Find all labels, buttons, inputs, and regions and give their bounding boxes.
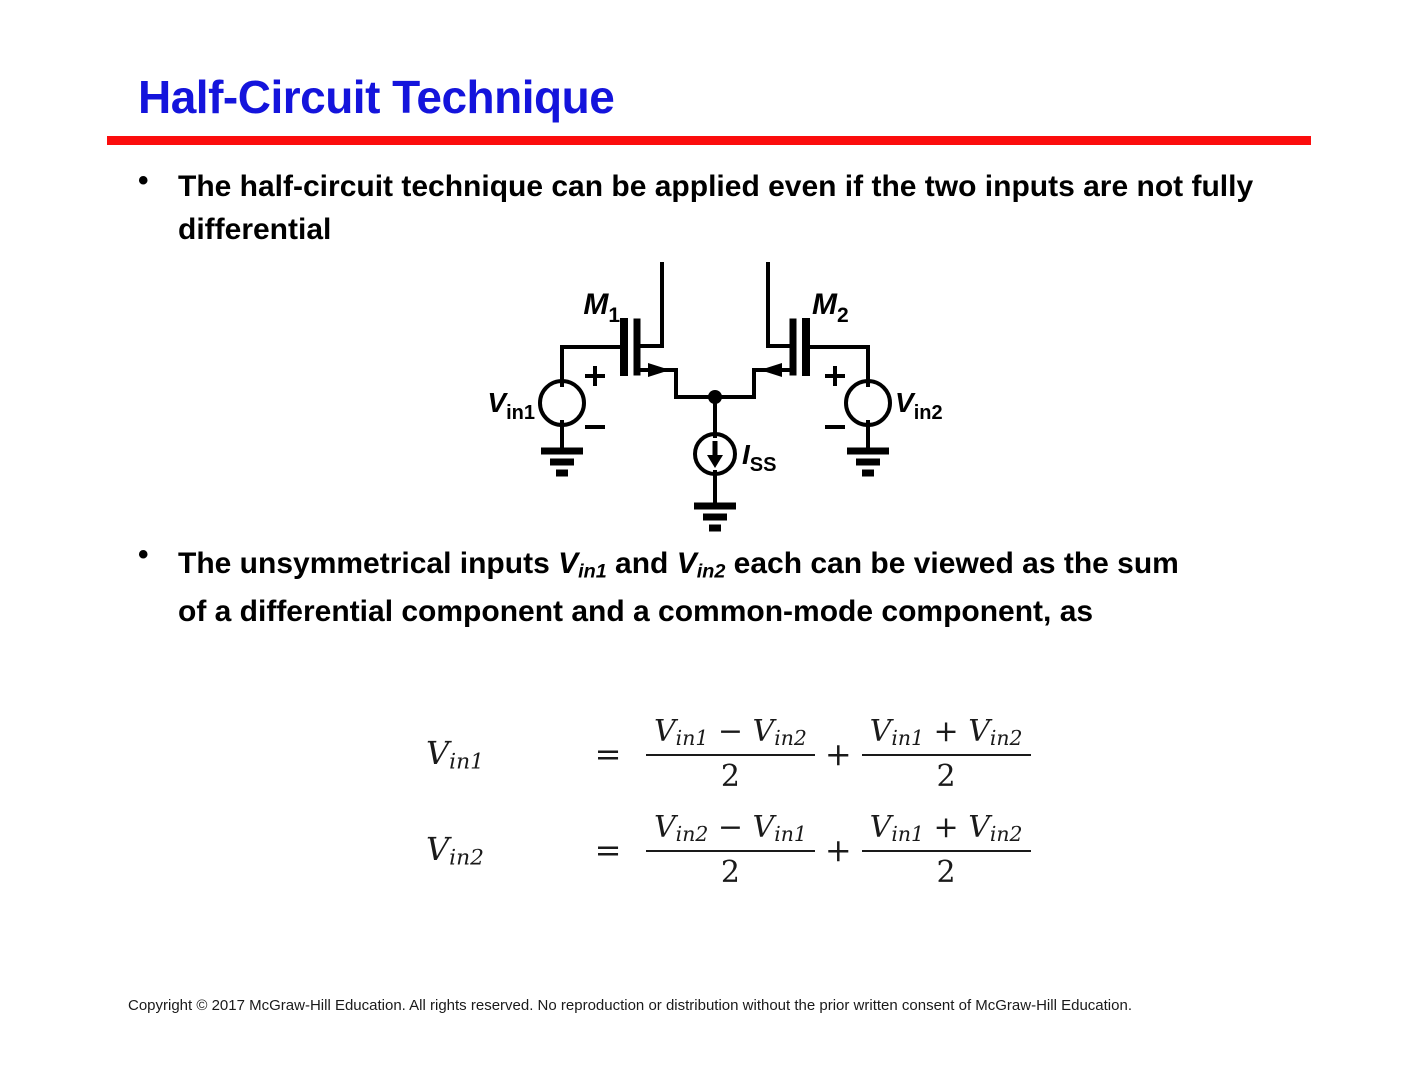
bullet-2-mid: and [607,547,677,580]
bullet-2-vin2-sub: in2 [697,560,726,582]
bullet-marker-icon: • [138,540,178,570]
m1-source-arrow-icon [648,363,670,377]
ground-symbol-vin1 [541,451,583,473]
equation-2-term1-numerator: Vin2 − Vin1 [646,810,815,849]
equation-2-term2-fraction: Vin1 + Vin2 2 [862,810,1031,889]
equation-1-lhs: Vin1 [420,734,576,774]
bullet-item-1: • The half-circuit technique can be appl… [138,166,1258,251]
vin2-source-circle [846,381,890,425]
equation-1-plus: + [821,735,856,773]
eq2-t1-op: − [718,810,743,845]
equation-2-term2-numerator: Vin1 + Vin2 [862,810,1031,849]
eq2-t2-a-base: V [870,810,892,845]
bullet-2-vin1-base: V [558,547,578,580]
eq2-t1-a-base: V [654,810,676,845]
m2-source-arrow-icon [760,363,782,377]
equation-2-rhs: Vin2 − Vin1 2 + Vin1 + Vin2 2 [640,810,1037,889]
circuit-diagram: M1 M2 Vin1 Vin2 ISS [480,262,950,537]
eq2-t2-a-sub: in1 [891,823,924,847]
equation-1-term2-numerator: Vin1 + Vin2 [862,714,1031,753]
eq1-t1-op: − [718,714,743,749]
ground-symbol-vin2 [847,451,889,473]
equation-2-term1-fraction: Vin2 − Vin1 2 [646,810,815,889]
equation-2-term1-denominator: 2 [721,852,740,890]
label-m1-base: M [583,288,609,321]
eq1-t1-a-base: V [654,714,676,749]
label-m1-sub: 1 [608,304,620,327]
eq1-t1-b-sub: in2 [774,727,807,751]
label-vin1: Vin1 [487,387,535,424]
vin1-polarity-signs [585,366,605,429]
equation-row-2: Vin2 = Vin2 − Vin1 2 + Vin1 + Vin2 2 [420,802,1020,898]
label-m2-base: M [812,288,838,321]
label-m2: M2 [812,288,849,327]
ground-symbol-tail [694,506,736,528]
label-vin1-sub: in1 [506,402,535,424]
bullet-2-vin1: Vin1 [558,547,607,580]
bullet-marker-icon: • [138,166,178,196]
vin2-polarity-signs [825,366,845,429]
bullet-2-vin2-base: V [677,547,697,580]
equation-2-term2-denominator: 2 [937,852,956,890]
equation-2-equals: = [576,831,640,869]
equation-block: Vin1 = Vin1 − Vin2 2 + Vin1 + Vin2 2 Vin… [420,706,1020,898]
eq1-t2-op: + [934,714,959,749]
eq2-t2-b-base: V [968,810,990,845]
copyright-footer: Copyright © 2017 McGraw-Hill Education. … [128,997,1132,1014]
label-vin2: Vin2 [895,387,943,424]
bullet-item-2: • The unsymmetrical inputs Vin1 and Vin2… [138,540,1198,636]
eq2-t1-b-base: V [753,810,775,845]
eq1-t1-a-sub: in1 [676,727,709,751]
slide: Half-Circuit Technique • The half-circui… [0,0,1408,1088]
eq1-t2-b-sub: in2 [990,727,1023,751]
label-vin2-sub: in2 [914,402,943,424]
equation-1-rhs: Vin1 − Vin2 2 + Vin1 + Vin2 2 [640,714,1037,793]
eq1-t1-b-base: V [753,714,775,749]
eq1-t2-b-base: V [968,714,990,749]
equation-2-lhs-base: V [426,830,449,868]
bullet-1-text: The half-circuit technique can be applie… [178,166,1258,251]
equation-row-1: Vin1 = Vin1 − Vin2 2 + Vin1 + Vin2 2 [420,706,1020,802]
bullet-2-vin1-sub: in1 [578,560,607,582]
eq2-t1-b-sub: in1 [774,823,807,847]
common-source-node-dot [708,390,722,404]
equation-1-term1-fraction: Vin1 − Vin2 2 [646,714,815,793]
equation-1-lhs-sub: in1 [449,749,484,774]
label-iss-sub: SS [750,454,777,476]
bullet-2-vin2: Vin2 [677,547,726,580]
equation-1-term2-fraction: Vin1 + Vin2 2 [862,714,1031,793]
bullet-2-lead: The unsymmetrical inputs [178,547,558,580]
label-m2-sub: 2 [837,304,849,327]
title-underline-rule [107,136,1311,145]
equation-1-lhs-base: V [426,734,449,772]
eq2-t2-b-sub: in2 [990,823,1023,847]
current-source-arrow-icon [707,441,723,468]
vin1-source-circle [540,381,584,425]
eq2-t2-op: + [934,810,959,845]
equation-1-equals: = [576,735,640,773]
page-title: Half-Circuit Technique [138,70,614,124]
bullet-2-text: The unsymmetrical inputs Vin1 and Vin2 e… [178,540,1198,636]
equation-2-lhs-sub: in2 [449,845,484,870]
eq2-t1-a-sub: in2 [676,823,709,847]
label-m1: M1 [583,288,620,327]
eq1-t2-a-base: V [870,714,892,749]
equation-2-lhs: Vin2 [420,830,576,870]
equation-1-term1-denominator: 2 [721,756,740,794]
eq1-t2-a-sub: in1 [891,727,924,751]
equation-2-plus: + [821,831,856,869]
label-iss: ISS [742,439,776,476]
equation-1-term1-numerator: Vin1 − Vin2 [646,714,815,753]
equation-1-term2-denominator: 2 [937,756,956,794]
